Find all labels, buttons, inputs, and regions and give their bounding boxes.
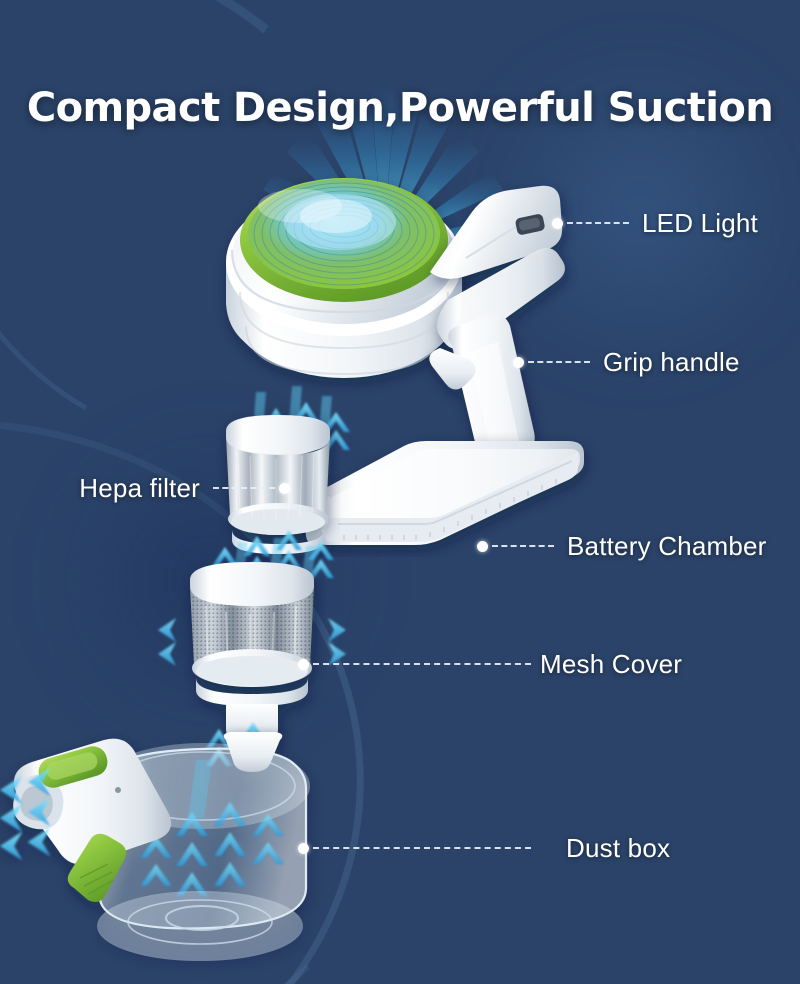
callout-dot-icon: [552, 218, 563, 229]
background-arc-4: [0, 0, 534, 516]
callout-leader-line: [213, 487, 275, 489]
callout-hepa-filter[interactable]: Hepa filter: [79, 471, 290, 505]
callout-dot-icon: [298, 843, 309, 854]
callout-dot-icon: [513, 357, 524, 368]
callout-label: Dust box: [566, 833, 670, 864]
callout-label: Mesh Cover: [540, 649, 682, 680]
callout-dot-icon: [298, 659, 309, 670]
callout-label: Hepa filter: [79, 473, 200, 504]
callout-dust-box[interactable]: Dust box: [298, 831, 670, 865]
callout-label: Battery Chamber: [567, 531, 767, 562]
callout-battery-chamber[interactable]: Battery Chamber: [477, 529, 767, 563]
callout-mesh-cover[interactable]: Mesh Cover: [298, 647, 682, 681]
callout-leader-line: [313, 847, 531, 849]
callout-led-light[interactable]: LED Light: [552, 206, 758, 240]
callout-leader-line: [492, 545, 554, 547]
callout-label: LED Light: [642, 208, 758, 239]
callout-leader-line: [313, 663, 531, 665]
callout-label: Grip handle: [603, 347, 740, 378]
page-title: Compact Design,Powerful Suction: [0, 85, 800, 131]
background-arc-1: [0, 0, 515, 913]
product-infographic: LED LightGrip handleHepa filterBattery C…: [0, 0, 800, 984]
callout-dot-icon: [279, 483, 290, 494]
callout-leader-line: [528, 361, 590, 363]
callout-grip-handle[interactable]: Grip handle: [513, 345, 740, 379]
callout-dot-icon: [477, 541, 488, 552]
callout-leader-line: [567, 222, 629, 224]
